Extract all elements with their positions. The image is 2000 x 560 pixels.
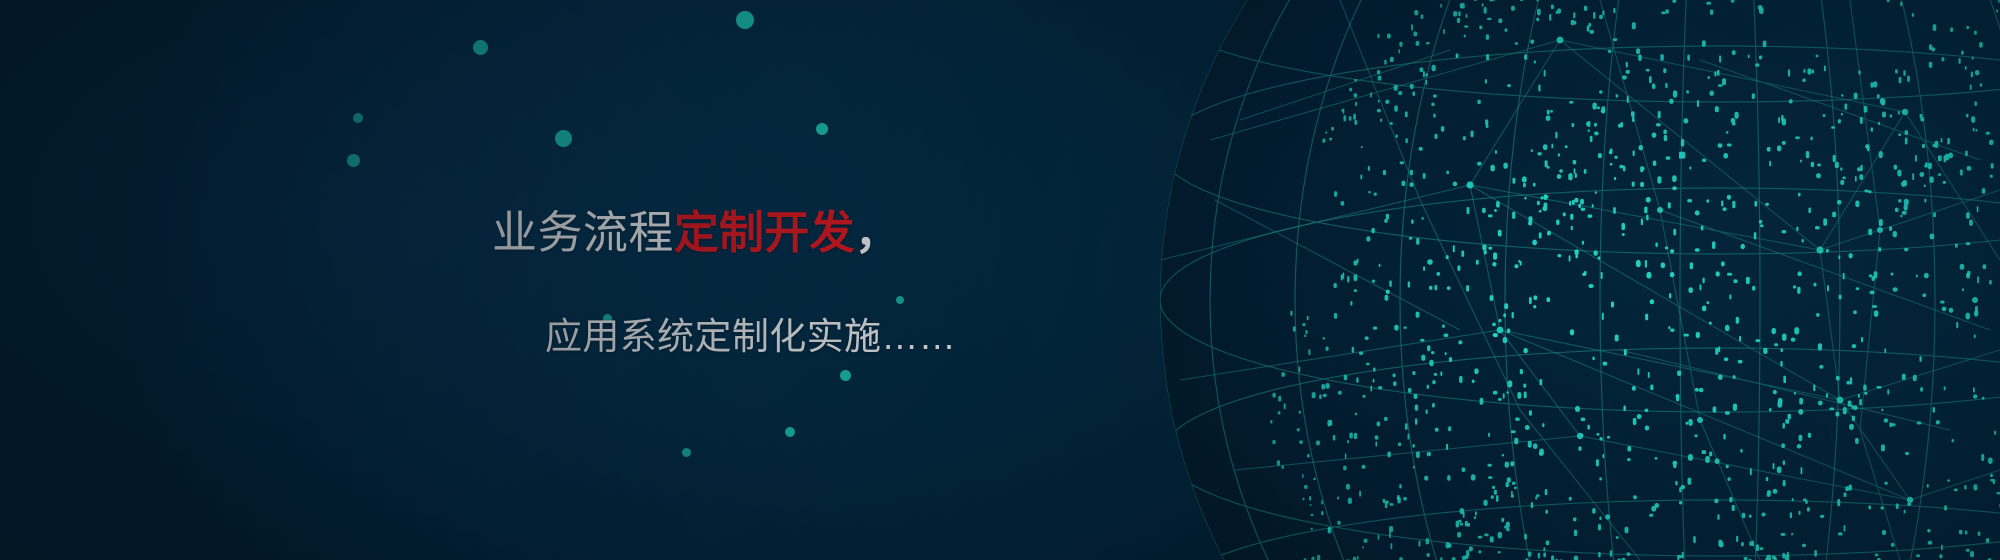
accent-dot <box>353 113 363 123</box>
accent-dot <box>682 448 691 457</box>
accent-dot <box>347 154 360 167</box>
accent-dot <box>816 123 828 135</box>
accent-dot <box>785 427 795 437</box>
accent-dot <box>736 11 754 29</box>
accent-dot <box>473 40 488 55</box>
accent-dot <box>555 130 572 147</box>
accent-dot <box>840 370 851 381</box>
globe-network-graphic <box>0 0 2000 560</box>
hero-banner: 业务流程定制开发， 应用系统定制化实施…… <box>0 0 2000 560</box>
accent-dot <box>896 296 904 304</box>
accent-dot <box>603 314 612 323</box>
